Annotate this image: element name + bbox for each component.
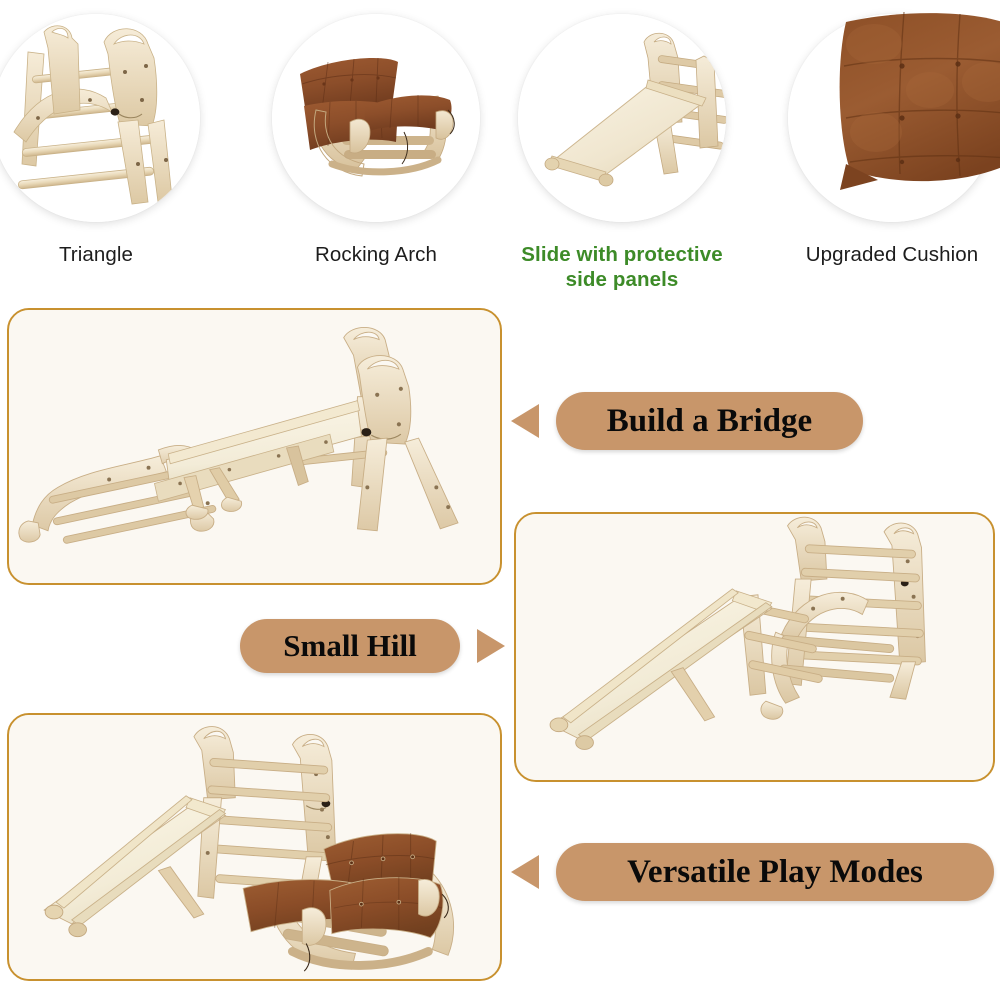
arrow-left-icon xyxy=(511,855,539,889)
climbing-triangle-photo-icon xyxy=(0,14,200,222)
scene-small-hill xyxy=(516,514,993,780)
callout-build-a-bridge[interactable]: Build a Bridge xyxy=(511,392,863,450)
callout-versatile-play-modes[interactable]: Versatile Play Modes xyxy=(511,843,994,901)
component-thumbnail-strip: Triangle xyxy=(0,0,1000,290)
thumbnail-triangle[interactable]: Triangle xyxy=(0,14,200,222)
panel-small-hill xyxy=(514,512,995,782)
slide-ramp-photo-icon xyxy=(518,14,726,222)
thumbnail-label-cushion: Upgraded Cushion xyxy=(768,242,1000,267)
arrow-right-icon xyxy=(477,629,505,663)
infographic-page: Triangle xyxy=(0,0,1000,988)
scene-versatile-play-modes xyxy=(9,715,500,979)
thumbnail-label-slide: Slide with protective side panels xyxy=(498,242,746,292)
callout-label-versatile-play-modes[interactable]: Versatile Play Modes xyxy=(556,843,994,901)
callout-label-build-a-bridge[interactable]: Build a Bridge xyxy=(556,392,863,450)
panel-build-a-bridge xyxy=(7,308,502,585)
thumbnail-rocking-arch[interactable]: Rocking Arch xyxy=(272,14,480,222)
thumbnail-label-rocking-arch: Rocking Arch xyxy=(252,242,500,267)
tufted-cushion-photo-icon xyxy=(788,14,996,222)
panel-versatile-play-modes xyxy=(7,713,502,981)
callout-label-small-hill[interactable]: Small Hill xyxy=(240,619,460,673)
rocking-arch-cushion-photo-icon xyxy=(272,14,480,222)
scene-build-a-bridge xyxy=(9,310,500,583)
thumbnail-label-triangle: Triangle xyxy=(0,242,220,267)
thumbnail-slide[interactable]: Slide with protective side panels xyxy=(518,14,726,222)
callout-small-hill[interactable]: Small Hill xyxy=(240,619,505,673)
arrow-left-icon xyxy=(511,404,539,438)
thumbnail-cushion[interactable]: Upgraded Cushion xyxy=(788,14,996,222)
